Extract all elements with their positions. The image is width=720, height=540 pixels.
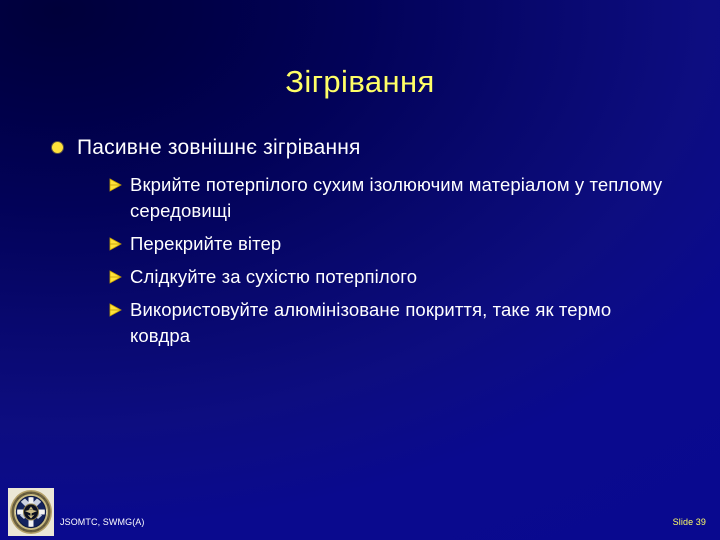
- bullet-level2-item: Слідкуйте за сухістю потерпілого: [52, 264, 692, 290]
- bullet-level2-label: Використовуйте алюмінізоване покриття, т…: [108, 297, 670, 349]
- slide-body: Пасивне зовнішнє зігрівання Вкрийте поте…: [52, 134, 692, 356]
- bullet-level2-list: Вкрийте потерпілого сухим ізолюючим мате…: [52, 172, 692, 349]
- yellow-arrow-bullet-icon: [108, 268, 126, 286]
- bullet-level2-item: Вкрийте потерпілого сухим ізолюючим мате…: [52, 172, 692, 224]
- bullet-level2-label: Вкрийте потерпілого сухим ізолюючим мате…: [108, 172, 670, 224]
- bullet-level2-item: Перекрийте вітер: [52, 231, 692, 257]
- title-area: Зігрівання: [0, 44, 720, 120]
- yellow-arrow-bullet-icon: [108, 301, 126, 319]
- footer-organization-label: JSOMTC, SWMG(A): [60, 517, 145, 527]
- bullet-level1-label: Пасивне зовнішнє зігрівання: [77, 134, 361, 162]
- slide-number-label: Slide 39: [673, 517, 706, 527]
- yellow-arrow-bullet-icon: [108, 176, 126, 194]
- bullet-level2-item: Використовуйте алюмінізоване покриття, т…: [52, 297, 692, 349]
- bullet-level2-label: Перекрийте вітер: [108, 231, 281, 257]
- page-title: Зігрівання: [285, 65, 434, 99]
- presentation-slide: Зігрівання Пасивне зовнішнє зігрівання В…: [0, 0, 720, 540]
- jsomtc-unit-crest-icon: [8, 488, 54, 536]
- bullet-level1-item: Пасивне зовнішнє зігрівання: [52, 134, 692, 162]
- yellow-arrow-bullet-icon: [108, 235, 126, 253]
- yellow-dot-bullet-icon: [52, 134, 77, 153]
- bullet-level2-label: Слідкуйте за сухістю потерпілого: [108, 264, 417, 290]
